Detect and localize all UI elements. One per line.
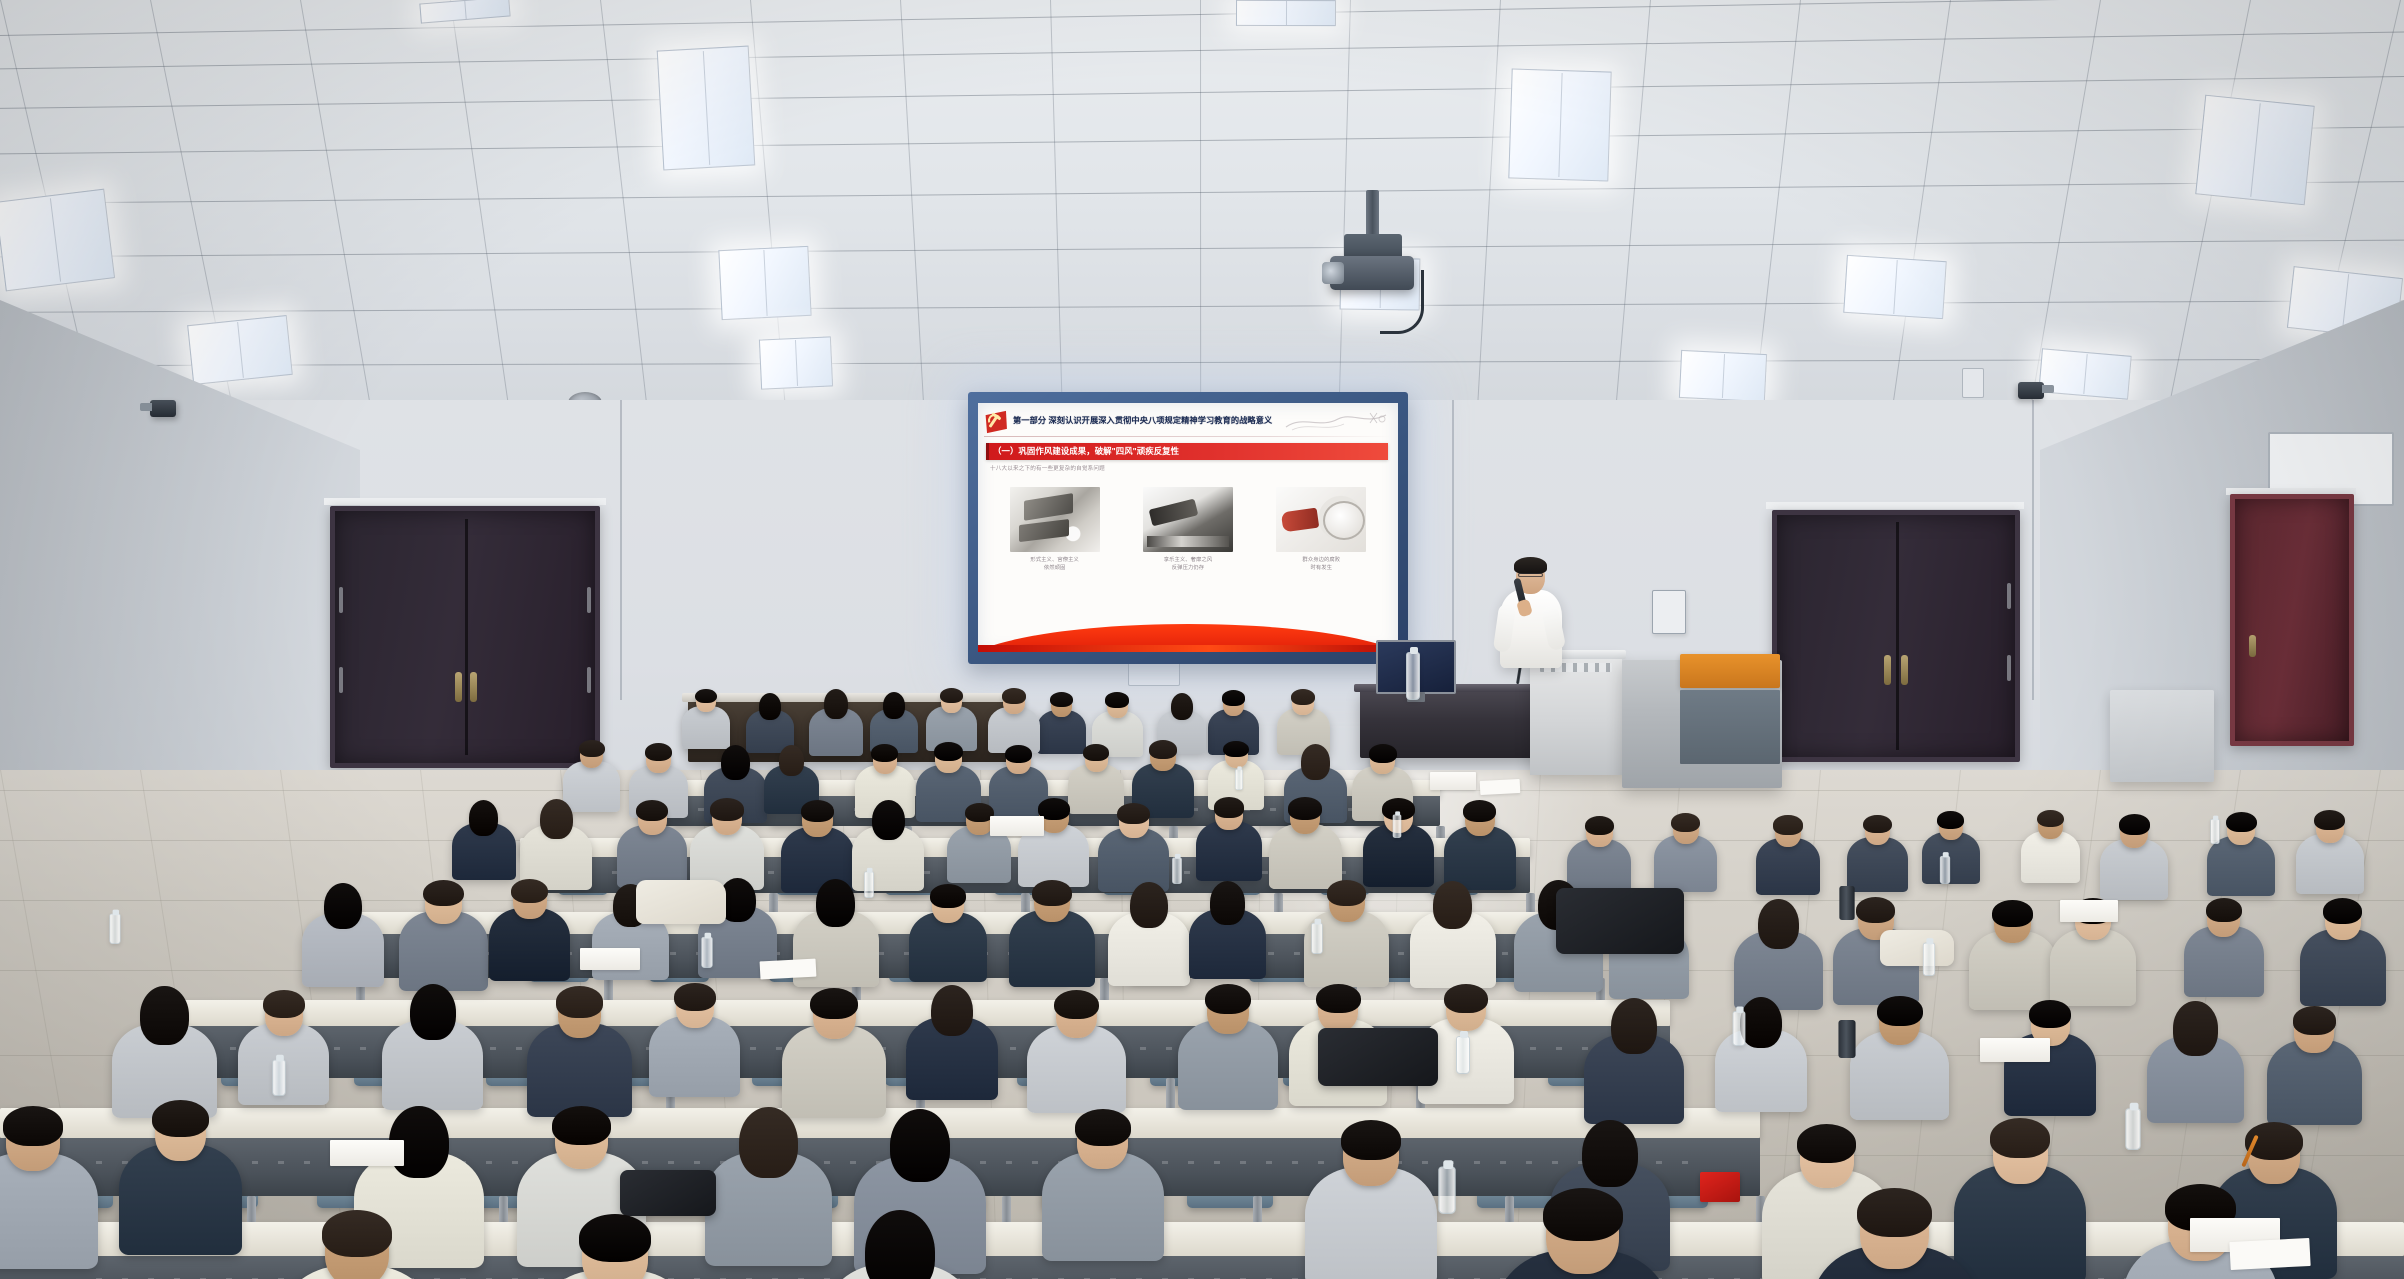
ink-wash-decoration-icon: [1282, 409, 1390, 433]
audience-member-hair: [1130, 882, 1168, 928]
audience-member-hair: [1937, 811, 1964, 829]
audience-member-hair: [931, 985, 973, 1036]
audience-member-hair: [1050, 692, 1073, 707]
audience-member-hair: [1171, 693, 1193, 720]
audience-member-hair: [1463, 800, 1496, 822]
audience-member: [399, 879, 488, 1000]
av-console: [1622, 660, 1782, 788]
ceiling-light-panel: [1236, 0, 1336, 26]
audience-member-hair: [1990, 1118, 2050, 1158]
audience-member-hair: [1002, 688, 1026, 704]
projector-cable: [1380, 270, 1424, 334]
audience-member-hair: [1863, 815, 1891, 834]
audience-member-hair: [1877, 996, 1922, 1026]
door-split: [465, 519, 468, 756]
audience-member-hair: [816, 879, 855, 927]
audience-member: [1042, 1108, 1164, 1273]
water-bottle[interactable]: [1235, 769, 1243, 790]
ceiling-grid-line: [0, 238, 2404, 259]
slide-image-cell: 享乐主义、奢靡之风 反弹压力仍存: [1134, 487, 1242, 573]
audience-member-hair: [674, 983, 716, 1011]
projection-screen: 第一部分 深刻认识开展深入贯彻中央八项规定精神学习教育的战略意义 （一）巩固作风…: [968, 392, 1408, 664]
audience-member-hair: [1797, 1124, 1857, 1163]
door-hinge: [2007, 583, 2011, 609]
audience-member-hair: [636, 800, 668, 821]
door-handle[interactable]: [1901, 655, 1908, 685]
console-accent-panel: [1680, 654, 1780, 688]
ceiling-light-panel: [419, 0, 510, 24]
water-bottle[interactable]: [1172, 857, 1182, 884]
door-split: [1896, 522, 1899, 749]
audience-member: [1654, 812, 1717, 897]
ceiling-light-panel: [187, 315, 293, 385]
audience-member-torso: [682, 706, 730, 749]
audience-member-hair: [2226, 812, 2257, 832]
water-bottle[interactable]: [864, 871, 874, 898]
audience-member-hair: [1611, 998, 1657, 1054]
door-handle[interactable]: [1884, 655, 1891, 685]
audience-member-hair: [934, 742, 963, 761]
audience-member-hair: [810, 988, 858, 1019]
audience-member-hair: [263, 990, 305, 1018]
audience-member-hair: [1369, 744, 1397, 762]
slide-caption-line-2: 依然顽固: [1001, 565, 1109, 573]
audience-member-hair: [1671, 813, 1700, 832]
audience-member-torso: [2100, 839, 2168, 900]
bag[interactable]: [620, 1170, 716, 1216]
audience-member: [1178, 983, 1278, 1119]
audience-member-hair: [140, 986, 188, 1045]
audience-member: [824, 1209, 975, 1279]
audience-member: [1108, 881, 1191, 993]
water-bottle[interactable]: [1733, 1011, 1746, 1046]
paper-sheet[interactable]: [1480, 779, 1521, 795]
projection-screen-surface: 第一部分 深刻认识开展深入贯彻中央八项规定精神学习教育的战略意义 （一）巩固作风…: [978, 403, 1398, 652]
audience-member-hair: [1288, 797, 1322, 819]
audience-member-hair: [152, 1100, 209, 1137]
audience-member-hair: [865, 1210, 934, 1279]
notebook[interactable]: [2060, 900, 2118, 922]
paper-sheet[interactable]: [2229, 1238, 2310, 1270]
ceiling-light-panel: [759, 336, 833, 389]
audience-member: [1027, 989, 1125, 1122]
audience-member-hair: [2037, 810, 2064, 828]
audience-member-hair: [1301, 744, 1330, 779]
paper-sheet[interactable]: [760, 959, 817, 980]
projector-lens: [1322, 262, 1344, 284]
slide-caption-line-1: 群众身边的腐败: [1267, 557, 1375, 565]
audience-member-hair: [710, 798, 744, 820]
door-frame: [1766, 502, 2024, 509]
presenter-glasses-icon: [1518, 573, 1543, 577]
slide-illustration-icon: [1143, 487, 1233, 552]
door-handle[interactable]: [470, 672, 477, 702]
ceiling-grid-line: [0, 124, 2404, 156]
audience-member-hair: [579, 1214, 651, 1262]
audience-member-hair: [1210, 881, 1246, 924]
ceiling-grid-line: [0, 179, 2404, 205]
audience-member: [2100, 814, 2168, 906]
slide-subtitle: 十八大以来之下的有一些更复杂的自觉系问题: [990, 464, 1388, 472]
door-handle[interactable]: [455, 672, 462, 702]
notebook[interactable]: [330, 1140, 404, 1166]
audience-member-hair: [759, 693, 781, 720]
lecture-hall-photo: 第一部分 深刻认识开展深入贯彻中央八项规定精神学习教育的战略意义 （一）巩固作风…: [0, 0, 2404, 1279]
slide-illustration-icon: [1276, 487, 1366, 552]
audience-member-hair: [511, 879, 548, 904]
water-bottle[interactable]: [2125, 1108, 2140, 1150]
audience-member: [1850, 995, 1949, 1129]
audience-member-hair: [1054, 990, 1099, 1020]
ceiling-light-panel: [1843, 255, 1947, 319]
audience-member-hair: [2029, 1000, 2071, 1028]
audience-member-hair: [1857, 1188, 1932, 1238]
ceiling-grid-line: [0, 299, 2404, 314]
audience-member-hair: [1582, 1120, 1637, 1187]
audience-member: [2184, 897, 2264, 1005]
wall-camera-icon: [150, 400, 176, 417]
ceiling-light-panel: [1679, 350, 1767, 402]
audience-member-hair: [1205, 984, 1251, 1014]
ceiling-grid-line: [750, 0, 791, 468]
ceiling-grid-line: [450, 0, 517, 465]
ceiling-grid-line: [0, 0, 2404, 39]
audience-member: [1189, 881, 1266, 986]
ceiling-grid-line: [600, 0, 654, 467]
ceiling-grid-line: [0, 28, 2404, 72]
audience-member: [1495, 1186, 1670, 1279]
audience-member-hair: [721, 745, 750, 780]
ceiling-grid-line: [900, 0, 928, 469]
audience-member: [1812, 1186, 1977, 1279]
water-bottle[interactable]: [1940, 856, 1950, 884]
ceiling-grid-line: [300, 0, 381, 463]
slide-image-cell: 群众身边的腐败 时有发生: [1267, 487, 1375, 573]
slide-image-row: 形式主义、官僚主义 依然顽固 享乐主义、奢靡之风 反弹压力仍存 群众身边的腐败 …: [988, 487, 1388, 597]
audience-member-hair: [423, 880, 464, 907]
audience-member-hair: [1773, 815, 1802, 834]
audience-member-hair: [1083, 744, 1108, 761]
audience-member: [536, 1212, 694, 1279]
audience-member-hair: [2206, 898, 2242, 922]
audience-member: [1847, 814, 1908, 897]
wall-plate: [1962, 368, 1984, 398]
slide-image-cell: 形式主义、官僚主义 依然顽固: [1001, 487, 1109, 573]
audience-member: [2296, 809, 2363, 900]
audience-member-hair: [1105, 692, 1129, 708]
wall-control-box[interactable]: [1652, 590, 1686, 634]
audience-member: [1196, 797, 1263, 887]
water-bottle[interactable]: [1438, 1167, 1456, 1215]
audience-member-hair: [322, 1210, 393, 1257]
audience-member-hair: [1992, 900, 2032, 927]
audience-member-hair: [1433, 881, 1472, 929]
audience-member-hair: [2314, 810, 2345, 830]
tumbler-cup[interactable]: [1839, 886, 1854, 920]
audience-member-hair: [1291, 689, 1315, 705]
side-cabinet: [2110, 690, 2214, 782]
water-bottle[interactable]: [1311, 923, 1322, 954]
audience-member-hair: [739, 1107, 797, 1178]
audience-member-hair: [1222, 690, 1246, 706]
audience-member-hair: [872, 800, 905, 840]
ceiling-projector: [1318, 190, 1428, 305]
ceiling-light-panel: [0, 189, 115, 292]
audience-member-hair: [1075, 1109, 1131, 1146]
ceiling-grid-line: [0, 73, 2404, 111]
audience-member-hair: [801, 800, 835, 822]
audience-member-hair: [1341, 1120, 1402, 1160]
water-bottle[interactable]: [1456, 1036, 1470, 1074]
water-bottle[interactable]: [1923, 943, 1935, 976]
red-package[interactable]: [1700, 1172, 1740, 1202]
audience-member-hair: [1032, 880, 1071, 906]
audience-member: [489, 878, 570, 988]
slide-section-banner: （一）巩固作风建设成果，破解"四风"顽疾反复性: [986, 443, 1388, 460]
audience-member-hair: [1543, 1188, 1623, 1241]
audience-member-hair: [1117, 803, 1150, 825]
party-emblem-icon: [984, 410, 1008, 433]
notebook[interactable]: [1430, 772, 1476, 790]
audience-member: [1410, 880, 1496, 996]
slide-caption-line-1: 享乐主义、奢靡之风: [1134, 557, 1242, 565]
audience-member: [705, 1106, 832, 1278]
audience-member-hair: [1856, 897, 1895, 923]
slide-caption-line-2: 时有发生: [1267, 565, 1375, 573]
audience-member-hair: [556, 986, 604, 1018]
audience-member: [649, 982, 740, 1105]
water-bottle[interactable]: [272, 1060, 285, 1096]
audience-member: [909, 883, 987, 989]
water-bottle[interactable]: [1393, 814, 1402, 838]
audience-member: [2300, 897, 2386, 1014]
console-door[interactable]: [1680, 690, 1780, 764]
audience-member-hair: [1740, 997, 1782, 1048]
slide-caption-line-2: 反弹压力仍存: [1134, 565, 1242, 573]
door-hinge: [339, 587, 343, 613]
audience-member-hair: [871, 744, 898, 762]
slide-content: 第一部分 深刻认识开展深入贯彻中央八项规定精神学习教育的战略意义 （一）巩固作风…: [978, 403, 1398, 652]
audience-member: [1715, 996, 1807, 1121]
audience-member-hair: [410, 984, 456, 1040]
audience-member-hair: [1585, 816, 1614, 835]
audience-member-hair: [2323, 898, 2362, 924]
presenter: [1488, 556, 1574, 686]
audience-member-hair: [1149, 740, 1177, 759]
audience-member-hair: [779, 745, 804, 776]
slide-title: 第一部分 深刻认识开展深入贯彻中央八项规定精神学习教育的战略意义: [1013, 417, 1272, 425]
audience-member-hair: [324, 883, 362, 929]
notebook[interactable]: [990, 816, 1044, 836]
water-bottle[interactable]: [1406, 652, 1420, 700]
wall-seam: [2032, 400, 2034, 700]
audience-member-hair: [2173, 1001, 2217, 1055]
audience-member-hair: [579, 740, 605, 757]
audience-member-hair: [2293, 1006, 2336, 1035]
audience-member: [382, 983, 483, 1119]
audience-member: [0, 1105, 98, 1279]
audience-member: [1756, 815, 1820, 901]
audience-member: [2147, 1000, 2244, 1131]
slide-caption-line-1: 形式主义、官僚主义: [1001, 557, 1109, 565]
notebook[interactable]: [580, 948, 640, 970]
audience-member: [1584, 997, 1685, 1133]
audience-member-hair: [1327, 880, 1366, 906]
wall-camera-icon: [2018, 382, 2044, 399]
audience-member-hair: [1316, 984, 1361, 1014]
audience-member: [2021, 809, 2080, 889]
presenter-hair: [1514, 557, 1547, 574]
door-hinge: [2007, 655, 2011, 681]
audience-member: [119, 1099, 242, 1266]
audience-member-hair: [890, 1109, 950, 1182]
door-right[interactable]: [1772, 510, 2020, 762]
audience-member-hair: [1005, 745, 1032, 763]
ceiling-grid-line: [1884, 0, 1951, 465]
audience-member-hair: [1214, 797, 1244, 817]
slide-header-rule: [984, 436, 1392, 437]
audience-member: [2267, 1005, 2362, 1133]
audience-member-torso: [2300, 929, 2386, 1006]
door-hinge: [587, 587, 591, 613]
slide-illustration-icon: [1010, 487, 1100, 552]
slide-red-wave-decoration: [978, 616, 1398, 652]
audience-member-torso: [2050, 929, 2137, 1007]
ceiling-grid-line: [1474, 0, 1501, 469]
audience-member-hair: [1223, 741, 1248, 758]
audience-member-hair: [883, 692, 905, 719]
ceiling-light-panel: [657, 46, 756, 171]
ceiling-light-panel: [718, 246, 811, 320]
audience-member: [280, 1209, 434, 1279]
audience-member: [302, 882, 385, 994]
audience-member: [1922, 811, 1980, 890]
ceiling-light-panel: [2195, 95, 2315, 206]
door-hinge: [587, 667, 591, 693]
door-frame: [324, 498, 606, 505]
audience-member-hair: [645, 743, 672, 761]
audience-member-hair: [695, 689, 717, 703]
bag[interactable]: [1318, 1028, 1438, 1086]
door-handle[interactable]: [2249, 635, 2256, 657]
audience-member-torso: [0, 1153, 98, 1270]
audience-member: [906, 984, 998, 1108]
audience-member-hair: [1758, 899, 1799, 949]
audience-member-hair: [469, 800, 498, 836]
tumbler-cup[interactable]: [1838, 1020, 1855, 1058]
audience-member: [452, 799, 516, 886]
door-left[interactable]: [330, 506, 600, 768]
audience-member-torso: [1196, 821, 1263, 881]
audience-member-hair: [824, 689, 849, 719]
ceiling-light-panel: [1508, 68, 1611, 181]
audience-member: [1305, 1119, 1438, 1279]
audience-member-hair: [2119, 814, 2150, 835]
water-bottle[interactable]: [2210, 819, 2219, 844]
bag[interactable]: [1556, 888, 1684, 954]
water-bottle[interactable]: [701, 937, 712, 968]
notebook[interactable]: [1980, 1038, 2050, 1062]
slide-banner-text: （一）巩固作风建设成果，破解"四风"顽疾反复性: [993, 447, 1179, 455]
door-far-right[interactable]: [2230, 494, 2354, 746]
audience-member-hair: [552, 1106, 611, 1145]
door-hinge: [339, 667, 343, 693]
audience-member-hair: [1444, 984, 1488, 1013]
draped-cloth: [636, 880, 726, 924]
audience-member-hair: [940, 688, 963, 703]
audience-member: [1009, 879, 1095, 996]
projector-mount-pole: [1366, 190, 1379, 238]
audience-member-hair: [3, 1106, 63, 1145]
water-bottle[interactable]: [109, 914, 120, 944]
ceiling-grid-line: [1610, 0, 1651, 468]
draped-cloth: [1880, 930, 1954, 966]
audience-member-hair: [930, 884, 966, 908]
wall-seam: [620, 400, 622, 700]
audience-member-hair: [540, 799, 573, 840]
